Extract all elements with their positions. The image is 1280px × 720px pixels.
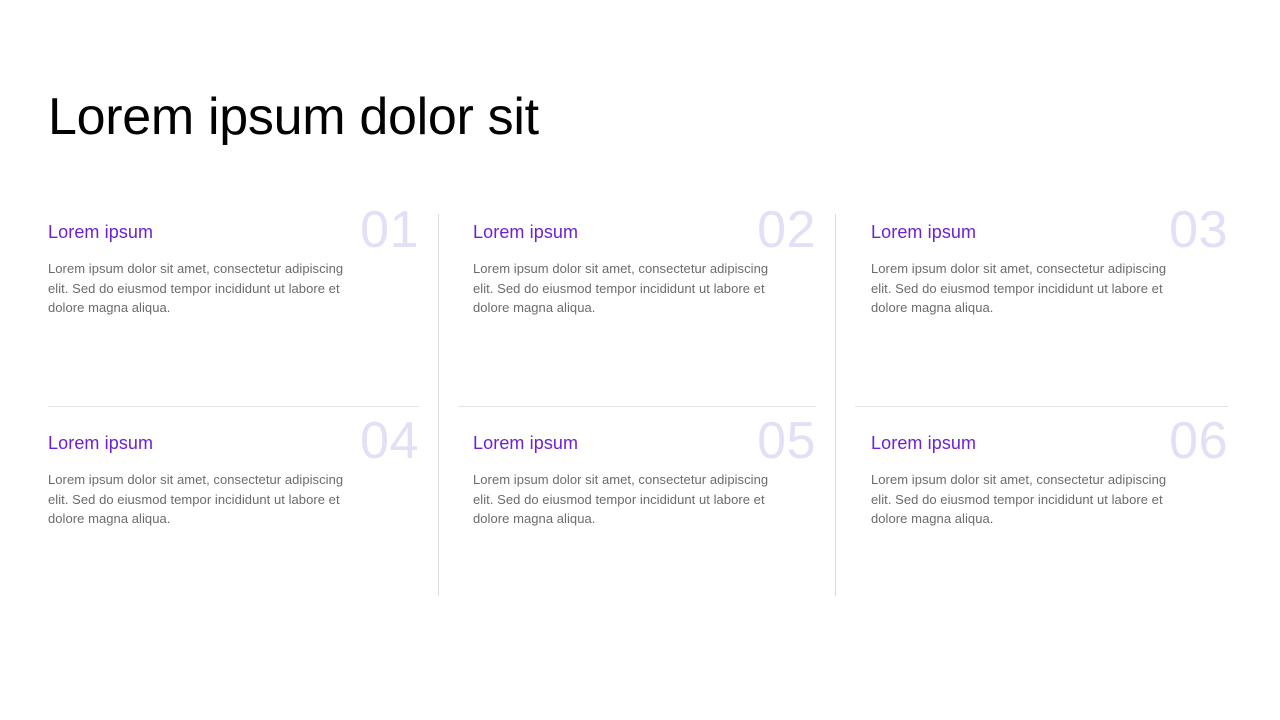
feature-card-01[interactable]: 01 Lorem ipsum Lorem ipsum dolor sit ame…	[48, 214, 438, 407]
card-heading: Lorem ipsum	[48, 214, 438, 244]
card-heading: Lorem ipsum	[473, 214, 835, 244]
card-body-text: Lorem ipsum dolor sit amet, consectetur …	[473, 244, 773, 318]
grid-cell-01: 01 Lorem ipsum Lorem ipsum dolor sit ame…	[48, 214, 438, 407]
grid-cell-06: 06 Lorem ipsum Lorem ipsum dolor sit ame…	[835, 407, 1232, 596]
slide-canvas: Lorem ipsum dolor sit 01 Lorem ipsum Lor…	[0, 0, 1280, 720]
card-body-text: Lorem ipsum dolor sit amet, consectetur …	[48, 455, 348, 529]
card-heading: Lorem ipsum	[48, 425, 438, 455]
page-title: Lorem ipsum dolor sit	[48, 85, 539, 149]
feature-card-05[interactable]: 05 Lorem ipsum Lorem ipsum dolor sit ame…	[473, 425, 835, 596]
feature-grid: 01 Lorem ipsum Lorem ipsum dolor sit ame…	[48, 214, 1232, 596]
card-body-text: Lorem ipsum dolor sit amet, consectetur …	[871, 244, 1171, 318]
card-heading: Lorem ipsum	[871, 425, 1232, 455]
card-body-text: Lorem ipsum dolor sit amet, consectetur …	[473, 455, 773, 529]
grid-cell-04: 04 Lorem ipsum Lorem ipsum dolor sit ame…	[48, 407, 438, 596]
grid-cell-05: 05 Lorem ipsum Lorem ipsum dolor sit ame…	[438, 407, 835, 596]
card-heading: Lorem ipsum	[473, 425, 835, 455]
feature-card-04[interactable]: 04 Lorem ipsum Lorem ipsum dolor sit ame…	[48, 425, 438, 596]
feature-card-03[interactable]: 03 Lorem ipsum Lorem ipsum dolor sit ame…	[871, 214, 1232, 407]
feature-card-02[interactable]: 02 Lorem ipsum Lorem ipsum dolor sit ame…	[473, 214, 835, 407]
grid-cell-02: 02 Lorem ipsum Lorem ipsum dolor sit ame…	[438, 214, 835, 407]
feature-card-06[interactable]: 06 Lorem ipsum Lorem ipsum dolor sit ame…	[871, 425, 1232, 596]
card-heading: Lorem ipsum	[871, 214, 1232, 244]
card-body-text: Lorem ipsum dolor sit amet, consectetur …	[871, 455, 1171, 529]
card-body-text: Lorem ipsum dolor sit amet, consectetur …	[48, 244, 348, 318]
grid-cell-03: 03 Lorem ipsum Lorem ipsum dolor sit ame…	[835, 214, 1232, 407]
